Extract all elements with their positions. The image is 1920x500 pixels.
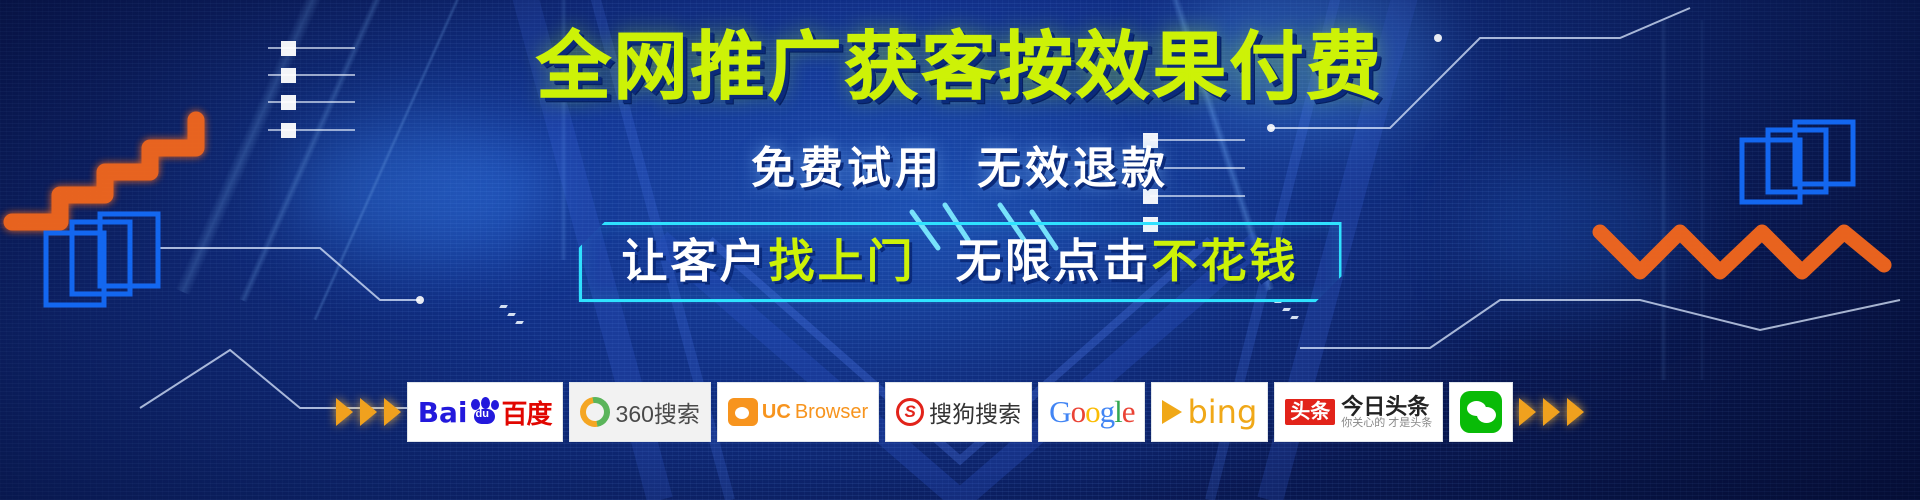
bing-mark-icon <box>1162 400 1182 424</box>
360-ring-icon <box>574 391 616 433</box>
highlight-part1-white: 让客户 <box>622 235 769 287</box>
chevron-arrows-left <box>336 398 401 426</box>
baidu-paw-icon: du <box>470 399 500 425</box>
logo-sogou-label: 搜狗搜索 <box>929 395 1021 429</box>
logo-baidu-cn: 百度 <box>502 394 552 431</box>
wechat-icon <box>1460 391 1502 433</box>
logo-toutiao-tagline: 你关心的 才是头条 <box>1341 418 1432 430</box>
speckle-dashes-left <box>500 300 523 329</box>
logo-google-wordmark: Google <box>1049 394 1134 430</box>
logo-bing-label: bing <box>1187 393 1257 431</box>
sogou-s-icon: S <box>896 398 924 426</box>
logo-baidu-badge: du <box>476 408 489 420</box>
partner-logo-strip: Bai du 百度 360搜索 UCBrowser <box>0 382 1920 442</box>
logo-baidu-latin: Bai <box>418 396 468 429</box>
logo-wechat[interactable] <box>1449 382 1513 442</box>
page-title: 全网推广获客按效果付费 <box>0 30 1920 104</box>
logo-toutiao[interactable]: 头条 今日头条 你关心的 才是头条 <box>1274 382 1443 442</box>
subheadline: 免费试用无效退款 <box>0 132 1920 196</box>
promo-banner: 全网推广获客按效果付费 免费试用无效退款 让客户找上门无限点击不花钱 Bai <box>0 0 1920 500</box>
chevron-arrows-right <box>1519 398 1584 426</box>
logo-google[interactable]: Google <box>1038 382 1145 442</box>
headline-block: 全网推广获客按效果付费 免费试用无效退款 让客户找上门无限点击不花钱 <box>0 30 1920 302</box>
highlight-box-text: 让客户找上门无限点击不花钱 <box>622 237 1299 285</box>
logo-uc-latin: UC <box>762 401 791 424</box>
highlight-part1-yellow: 找上门 <box>769 235 916 287</box>
logo-uc-suffix: Browser <box>795 401 868 424</box>
logo-360-search[interactable]: 360搜索 <box>569 382 711 442</box>
uc-squirrel-icon <box>728 398 758 426</box>
logo-360-label: 360搜索 <box>616 395 700 429</box>
subheadline-right: 无效退款 <box>977 144 1169 193</box>
highlight-part2-yellow: 不花钱 <box>1152 235 1299 287</box>
highlight-box-wrapper: 让客户找上门无限点击不花钱 <box>579 222 1342 302</box>
highlight-box: 让客户找上门无限点击不花钱 <box>579 222 1342 302</box>
subheadline-left: 免费试用 <box>751 144 943 193</box>
logo-uc-browser[interactable]: UCBrowser <box>717 382 879 442</box>
highlight-part2-white: 无限点击 <box>956 235 1152 287</box>
logo-toutiao-label: 今日头条 <box>1341 395 1432 418</box>
logo-baidu[interactable]: Bai du 百度 <box>407 382 563 442</box>
toutiao-badge-icon: 头条 <box>1285 399 1335 425</box>
logo-bing[interactable]: bing <box>1151 382 1268 442</box>
logo-sogou-search[interactable]: S 搜狗搜索 <box>885 382 1032 442</box>
